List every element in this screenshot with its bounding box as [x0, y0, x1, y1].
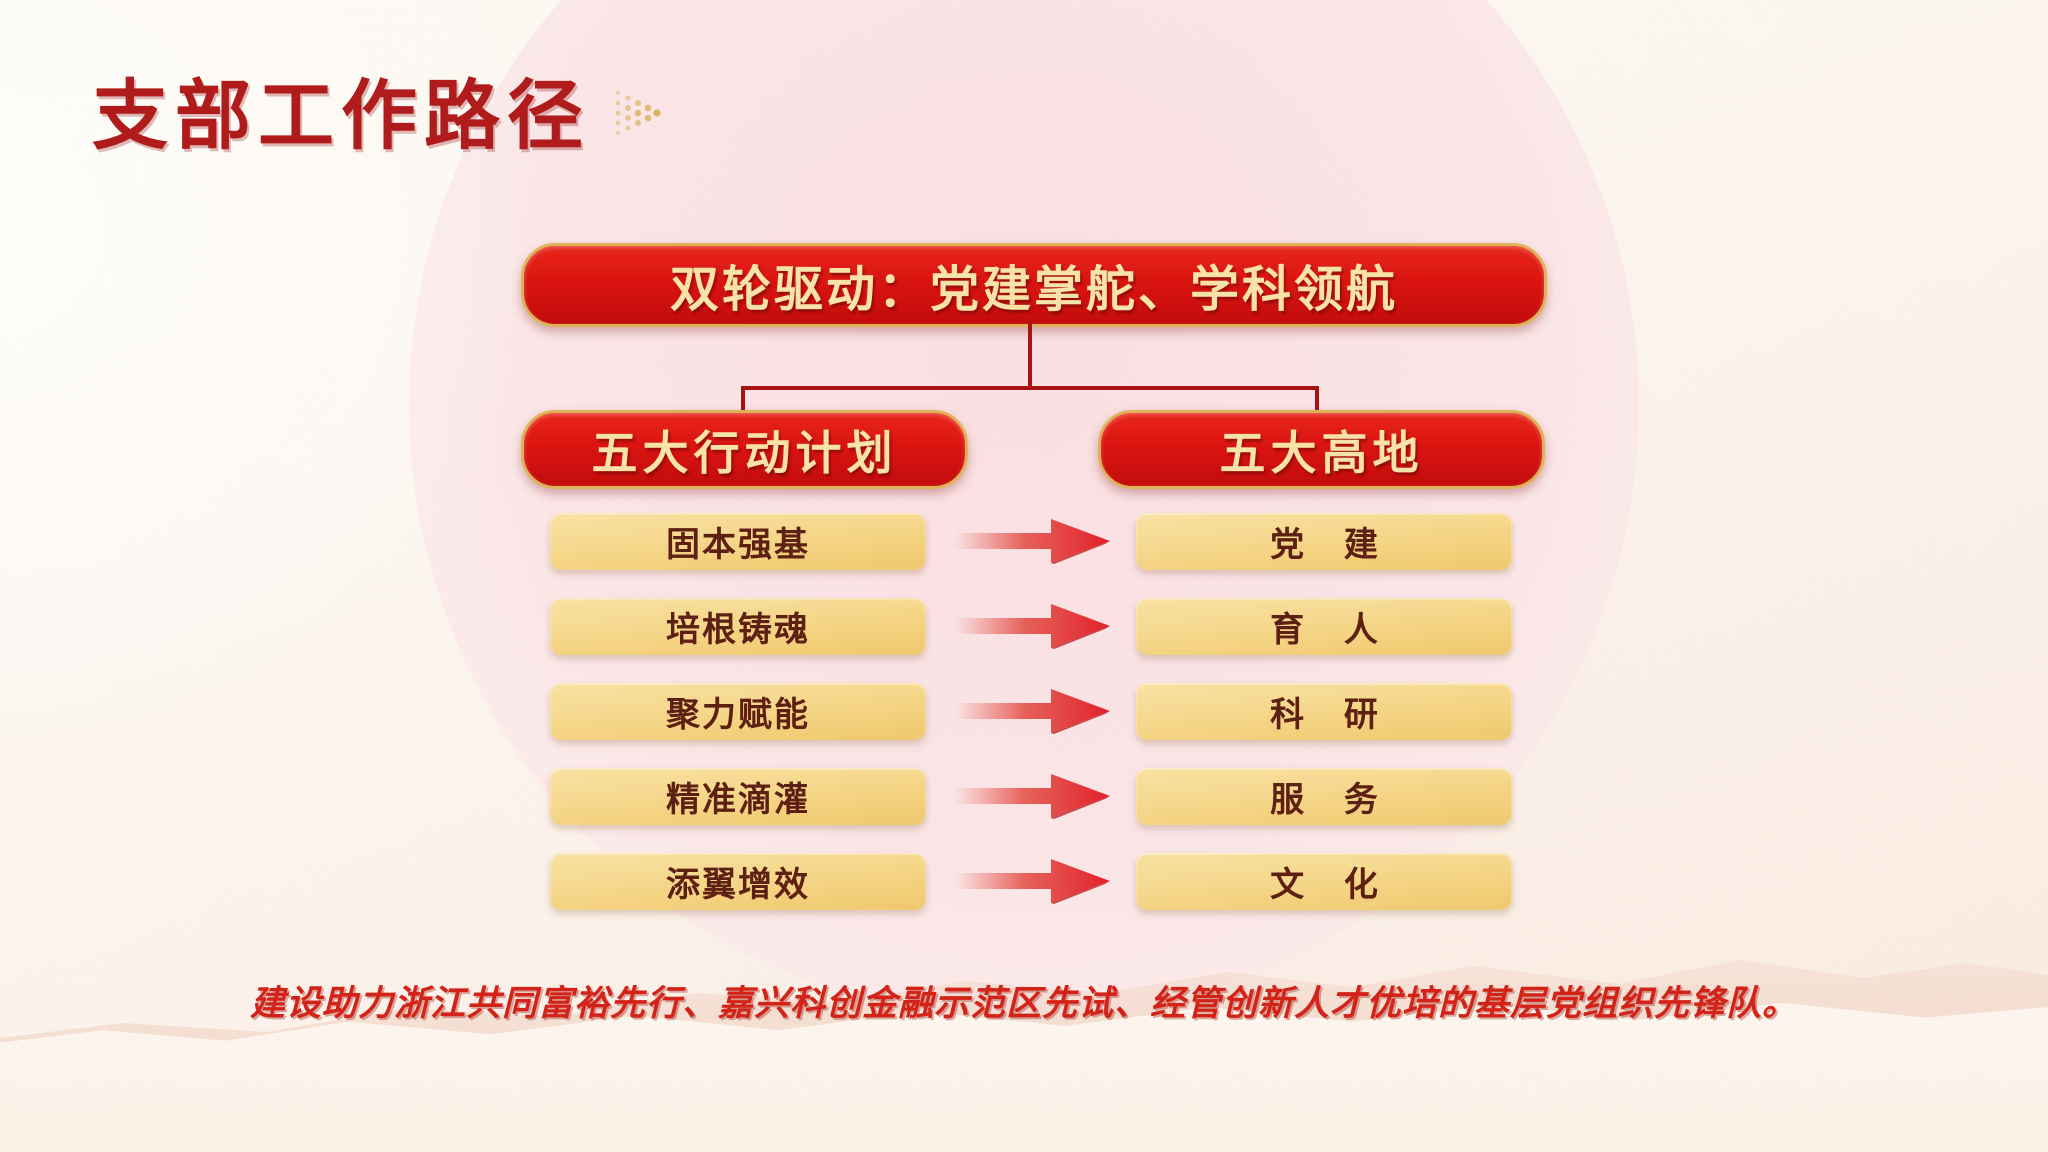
right-arrow-icon-4 — [955, 772, 1110, 820]
right-item-3[interactable]: 科 研 — [1136, 683, 1512, 740]
right-item-4[interactable]: 服 务 — [1136, 768, 1512, 825]
connector-horizontal — [741, 386, 1319, 390]
right-arrow-icon-1 — [955, 517, 1110, 565]
left-branch-header[interactable]: 五大行动计划 — [521, 410, 968, 489]
connector-vertical-right — [1315, 386, 1319, 412]
left-item-4[interactable]: 精准滴灌 — [550, 768, 926, 825]
left-item-2[interactable]: 培根铸魂 — [550, 598, 926, 655]
left-item-5[interactable]: 添翼增效 — [550, 853, 926, 910]
right-branch-header[interactable]: 五大高地 — [1098, 410, 1545, 489]
slide-caption: 建设助力浙江共同富裕先行、嘉兴科创金融示范区先试、经管创新人才优培的基层党组织先… — [0, 975, 2048, 1026]
right-arrow-icon-2 — [955, 602, 1110, 650]
right-item-1[interactable]: 党 建 — [1136, 513, 1512, 570]
right-arrow-icon-3 — [955, 687, 1110, 735]
connector-vertical-top — [1028, 321, 1032, 386]
left-item-1[interactable]: 固本强基 — [550, 513, 926, 570]
right-item-5[interactable]: 文 化 — [1136, 853, 1512, 910]
right-item-2[interactable]: 育 人 — [1136, 598, 1512, 655]
right-arrow-icon-5 — [955, 857, 1110, 905]
left-item-3[interactable]: 聚力赋能 — [550, 683, 926, 740]
connector-vertical-left — [741, 386, 745, 412]
diagram-root-banner[interactable]: 双轮驱动：党建掌舵、学科领航 — [521, 243, 1547, 327]
